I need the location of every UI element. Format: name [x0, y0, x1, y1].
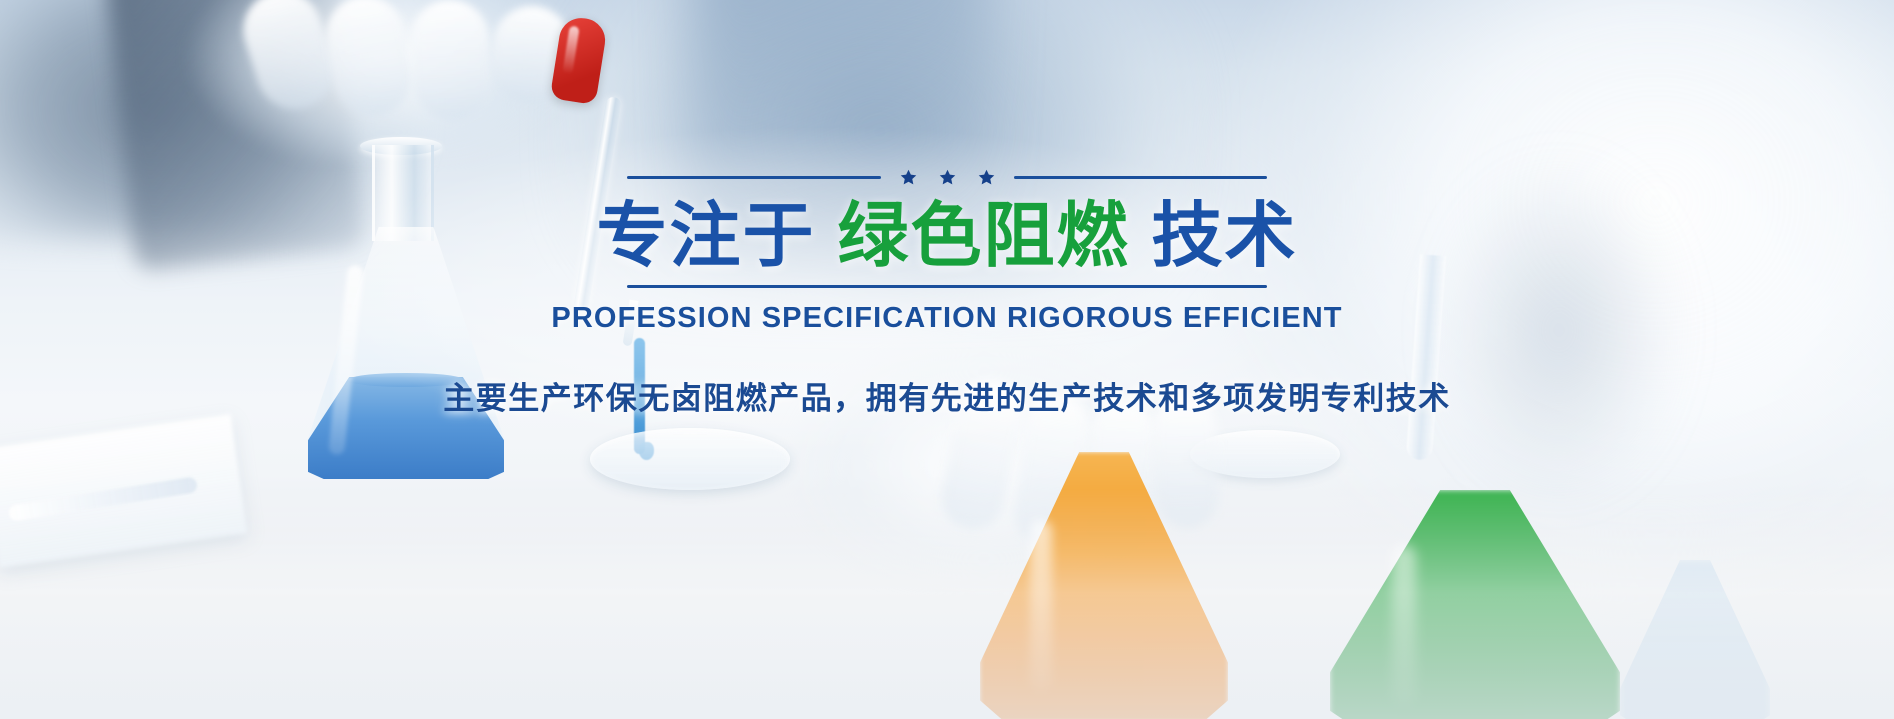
divider-stars: [899, 168, 996, 187]
star-icon: [938, 168, 957, 187]
headline-part-2: 绿色阻燃: [837, 194, 1129, 277]
star-icon: [899, 168, 918, 187]
divider-rule-right: [1014, 176, 1268, 179]
star-divider: [627, 168, 1267, 186]
headline-underline-rule: [627, 285, 1267, 288]
banner-english-subtitle: PROFESSION SPECIFICATION RIGOROUS EFFICI…: [551, 302, 1342, 335]
banner-headline: 专注于绿色阻燃技术: [596, 198, 1297, 275]
star-icon: [977, 168, 996, 187]
headline-part-1: 专注于: [596, 194, 815, 277]
promo-banner: 专注于绿色阻燃技术 PROFESSION SPECIFICATION RIGOR…: [0, 0, 1894, 719]
banner-text-overlay: 专注于绿色阻燃技术 PROFESSION SPECIFICATION RIGOR…: [0, 0, 1894, 719]
headline-part-3: 技术: [1152, 194, 1298, 277]
divider-rule-left: [627, 176, 881, 179]
banner-tagline: 主要生产环保无卤阻燃产品，拥有先进的生产技术和多项发明专利技术: [443, 373, 1451, 418]
